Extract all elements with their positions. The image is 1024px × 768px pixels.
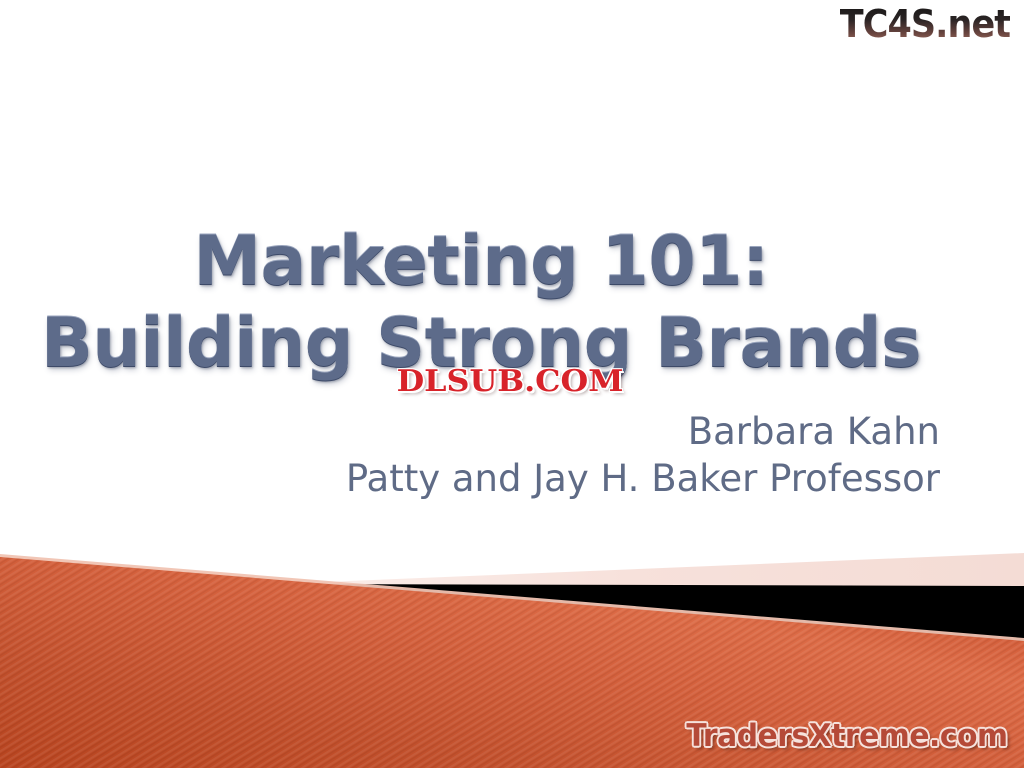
tc4s-logo: TC4S.net [840, 2, 1010, 46]
tradersxtreme-logo: TradersXtreme.com [687, 718, 1008, 754]
title-line-1: Marketing 101: [0, 222, 962, 302]
presenter-role: Patty and Jay H. Baker Professor [346, 455, 940, 502]
pink-wedge [300, 553, 1024, 587]
presentation-slide: TC4S.net Marketing 101: Building Strong … [0, 0, 1024, 768]
subtitle: Barbara Kahn Patty and Jay H. Baker Prof… [346, 408, 940, 502]
dlsub-watermark: DLSUB.COM [362, 362, 659, 400]
page-title: Marketing 101: Building Strong Brands [0, 222, 962, 384]
presenter-name: Barbara Kahn [346, 408, 940, 455]
